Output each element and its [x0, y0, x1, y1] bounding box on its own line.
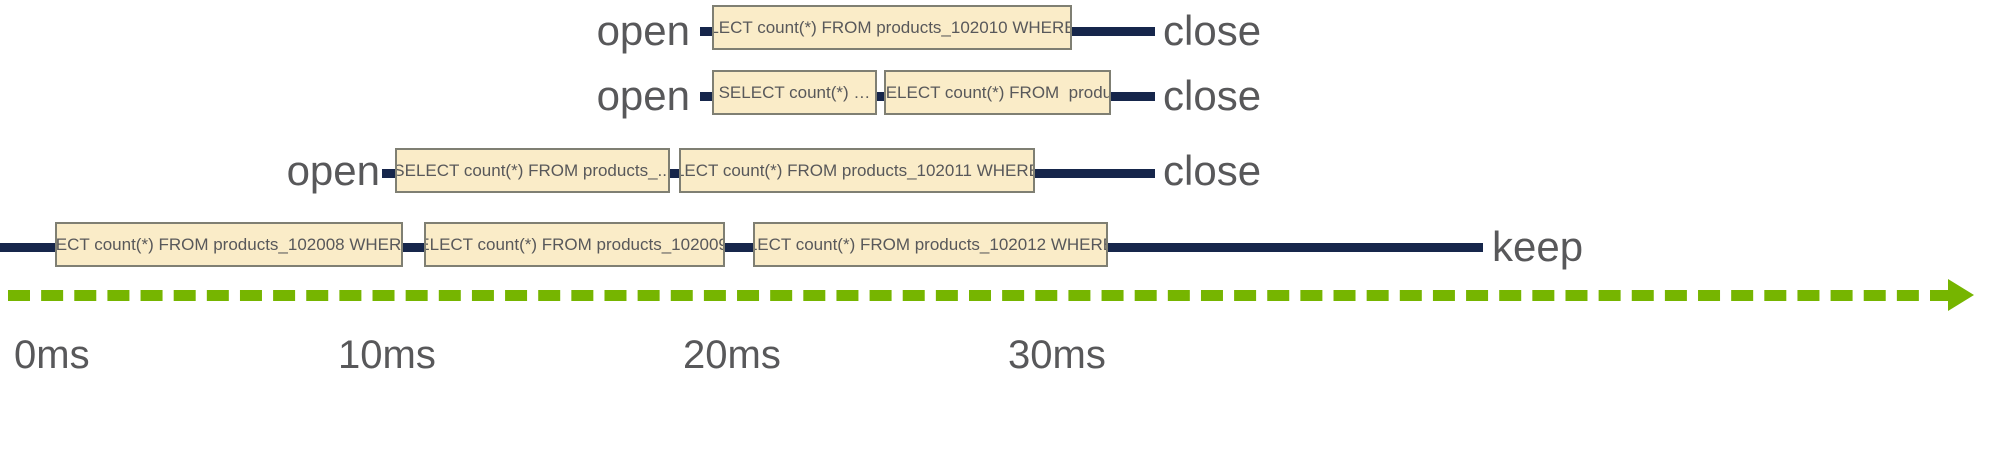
row-1-query-box-1[interactable]: SELECT count(*) FROM products_102010 WHE… — [712, 5, 1072, 50]
time-axis-arrow-head — [1948, 279, 1974, 311]
row-3-close-label: close — [1163, 150, 1261, 192]
row-2-query-box-1[interactable]: SELECT count(*) … — [712, 70, 877, 115]
row-3-connection-segment-right — [1032, 169, 1155, 178]
time-tick-label-20ms: 20ms — [683, 335, 781, 375]
time-axis-arrow-line — [8, 290, 1952, 301]
row-4-query-box-1[interactable]: SELECT count(*) FROM products_102008 WHE… — [55, 222, 403, 267]
row-4-connection-segment-left — [0, 243, 62, 252]
row-3-query-box-2[interactable]: SELECT count(*) FROM products_102011 WHE… — [679, 148, 1035, 193]
time-tick-label-0ms: 0ms — [14, 335, 90, 375]
row-1-close-label: close — [1163, 10, 1261, 52]
row-4-query-box-2[interactable]: SELECT count(*) FROM products_102009 .. — [424, 222, 725, 267]
row-1-open-label: open — [540, 10, 690, 52]
row-3-query-box-1[interactable]: SELECT count(*) FROM products_... — [395, 148, 670, 193]
row-4-keep-label: keep — [1492, 226, 1583, 268]
row-2-query-box-2[interactable]: SELECT count(*) FROM produc — [884, 70, 1111, 115]
row-2-close-label: close — [1163, 75, 1261, 117]
row-4-query-box-3[interactable]: SELECT count(*) FROM products_102012 WHE… — [753, 222, 1108, 267]
row-1-connection-segment-right — [1069, 27, 1155, 36]
time-tick-label-10ms: 10ms — [338, 335, 436, 375]
time-tick-label-30ms: 30ms — [1008, 335, 1106, 375]
timeline-diagram: open SELECT count(*) FROM products_10201… — [0, 0, 2000, 476]
row-4-connection-segment-right — [1105, 243, 1483, 252]
row-2-open-label: open — [540, 75, 690, 117]
row-3-open-label: open — [230, 150, 380, 192]
row-2-connection-segment-right — [1108, 92, 1155, 101]
